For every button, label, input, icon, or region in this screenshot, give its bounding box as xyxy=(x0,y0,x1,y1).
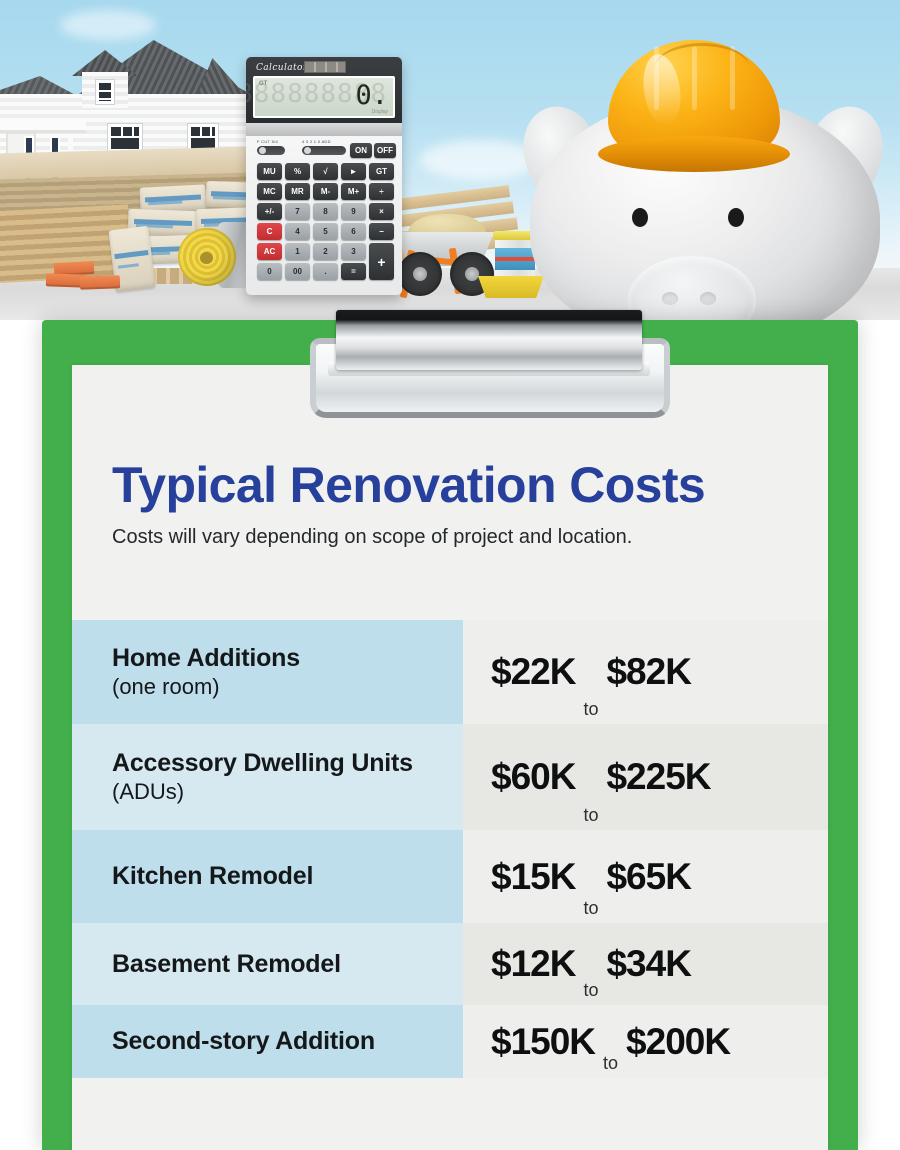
calculator-top-panel: Calculator GT 88888888888 0. Display xyxy=(246,57,402,123)
calc-key-5[interactable]: 5 xyxy=(313,223,338,240)
table-row: Home Additions (one room) $22K to $82K xyxy=(72,620,828,724)
calc-key-mu[interactable]: MU xyxy=(257,163,282,180)
wheelbarrow-wheel xyxy=(398,252,442,296)
table-row: Second-story Addition $150K to $200K xyxy=(72,1005,828,1078)
table-row: Basement Remodel $12K to $34K xyxy=(72,923,828,1005)
page-subtitle: Costs will vary depending on scope of pr… xyxy=(112,524,632,550)
cost-separator: to xyxy=(575,699,606,719)
clipboard: Typical Renovation Costs Costs will vary… xyxy=(42,320,858,1150)
renovation-costs-table: Home Additions (one room) $22K to $82K A… xyxy=(72,620,828,1078)
row-label-cell: Second-story Addition xyxy=(72,1005,463,1078)
house-window xyxy=(108,124,142,152)
cost-low: $15K xyxy=(491,857,575,897)
cost-low: $12K xyxy=(491,944,575,984)
calculator: Calculator GT 88888888888 0. Display F C… xyxy=(246,57,402,295)
row-label-cell: Home Additions (one room) xyxy=(72,620,463,724)
calc-key-minus[interactable]: − xyxy=(369,223,394,240)
calc-key-on[interactable]: ON xyxy=(350,143,372,158)
calc-key-sqrt[interactable]: √ xyxy=(313,163,338,180)
row-label-cell: Accessory Dwelling Units (ADUs) xyxy=(72,724,463,830)
table-row: Kitchen Remodel $15K to $65K xyxy=(72,830,828,923)
calc-key-00[interactable]: 00 xyxy=(285,263,310,280)
clipboard-paper: Typical Renovation Costs Costs will vary… xyxy=(72,365,828,1150)
solar-panel-icon xyxy=(304,61,346,73)
calc-key-ac[interactable]: AC xyxy=(257,243,282,260)
calculator-display: GT 88888888888 0. Display xyxy=(253,76,395,118)
cost-separator: to xyxy=(595,1053,626,1073)
switch-label-fcut: F CUT 5/4 xyxy=(257,139,278,144)
row-label: Accessory Dwelling Units xyxy=(112,749,463,778)
dormer-window xyxy=(96,80,114,104)
calc-key-0[interactable]: 0 xyxy=(257,263,282,280)
row-value-cell: $15K to $65K xyxy=(463,830,828,923)
calc-key-2[interactable]: 2 xyxy=(313,243,338,260)
calc-key-3[interactable]: 3 xyxy=(341,243,366,260)
display-value: 0. xyxy=(355,82,388,109)
row-value-cell: $150K to $200K xyxy=(463,1005,828,1078)
row-label: Kitchen Remodel xyxy=(112,862,463,891)
piggy-bank xyxy=(520,40,900,302)
row-value-cell: $22K to $82K xyxy=(463,620,828,724)
calc-key-divide[interactable]: ÷ xyxy=(369,183,394,200)
cost-separator: to xyxy=(575,980,606,1000)
calc-key-arrow[interactable]: ► xyxy=(341,163,366,180)
calc-key-percent[interactable]: % xyxy=(285,163,310,180)
piggy-eye-right xyxy=(728,208,744,227)
calc-key-mc[interactable]: MC xyxy=(257,183,282,200)
row-label-cell: Basement Remodel xyxy=(72,923,463,1005)
calc-key-4[interactable]: 4 xyxy=(285,223,310,240)
cost-high: $200K xyxy=(626,1022,730,1062)
calc-key-1[interactable]: 1 xyxy=(285,243,310,260)
porch-roof xyxy=(0,120,86,130)
insulation-roll xyxy=(178,228,236,286)
calc-key-plus[interactable]: + xyxy=(369,243,394,280)
decimal-switch[interactable] xyxy=(302,146,346,155)
row-value-cell: $60K to $225K xyxy=(463,724,828,830)
row-label: Second-story Addition xyxy=(112,1027,463,1056)
cost-high: $65K xyxy=(606,857,690,897)
hard-hat xyxy=(598,40,790,170)
calc-key-gt[interactable]: GT xyxy=(369,163,394,180)
calc-key-off[interactable]: OFF xyxy=(374,143,396,158)
cost-high: $34K xyxy=(606,944,690,984)
cost-high: $225K xyxy=(606,757,710,797)
calc-key-9[interactable]: 9 xyxy=(341,203,366,220)
row-sublabel: (ADUs) xyxy=(112,778,463,805)
calculator-band xyxy=(246,123,402,136)
calc-key-multiply[interactable]: × xyxy=(369,203,394,220)
switch-label-decimal: 4 3 2 1 0 ADD xyxy=(302,139,331,144)
cost-separator: to xyxy=(575,898,606,918)
calc-key-m-plus[interactable]: M+ xyxy=(341,183,366,200)
hero-photo: Calculator GT 88888888888 0. Display F C… xyxy=(0,0,900,320)
calc-key-decimal[interactable]: . xyxy=(313,263,338,280)
row-label-cell: Kitchen Remodel xyxy=(72,830,463,923)
brick xyxy=(80,275,120,289)
hard-hat-brim xyxy=(598,136,790,172)
calc-key-6[interactable]: 6 xyxy=(341,223,366,240)
cost-high: $82K xyxy=(606,652,690,692)
row-value-cell: $12K to $34K xyxy=(463,923,828,1005)
page-title: Typical Renovation Costs xyxy=(112,457,705,513)
calc-key-c[interactable]: C xyxy=(257,223,282,240)
calc-key-mr[interactable]: MR xyxy=(285,183,310,200)
row-label: Basement Remodel xyxy=(112,950,463,979)
piggy-nostril xyxy=(662,292,678,305)
calc-key-8[interactable]: 8 xyxy=(313,203,338,220)
calc-key-m-minus[interactable]: M- xyxy=(313,183,338,200)
cost-low: $150K xyxy=(491,1022,595,1062)
fcut-switch[interactable] xyxy=(257,146,285,155)
clipboard-metal-clip[interactable] xyxy=(310,310,670,418)
display-caption: Display xyxy=(372,109,388,115)
calc-key-plusminus[interactable]: +/- xyxy=(257,203,282,220)
dormer xyxy=(78,50,132,108)
cost-low: $60K xyxy=(491,757,575,797)
piggy-eye-left xyxy=(632,208,648,227)
calculator-brand-label: Calculator xyxy=(256,63,308,73)
table-row: Accessory Dwelling Units (ADUs) $60K to … xyxy=(72,724,828,830)
row-label: Home Additions xyxy=(112,644,463,673)
cost-low: $22K xyxy=(491,652,575,692)
cost-separator: to xyxy=(575,805,606,825)
calc-key-equals[interactable]: = xyxy=(341,263,366,280)
row-sublabel: (one room) xyxy=(112,673,463,700)
piggy-nostril xyxy=(700,292,716,305)
clip-bar xyxy=(336,310,642,370)
calc-key-7[interactable]: 7 xyxy=(285,203,310,220)
